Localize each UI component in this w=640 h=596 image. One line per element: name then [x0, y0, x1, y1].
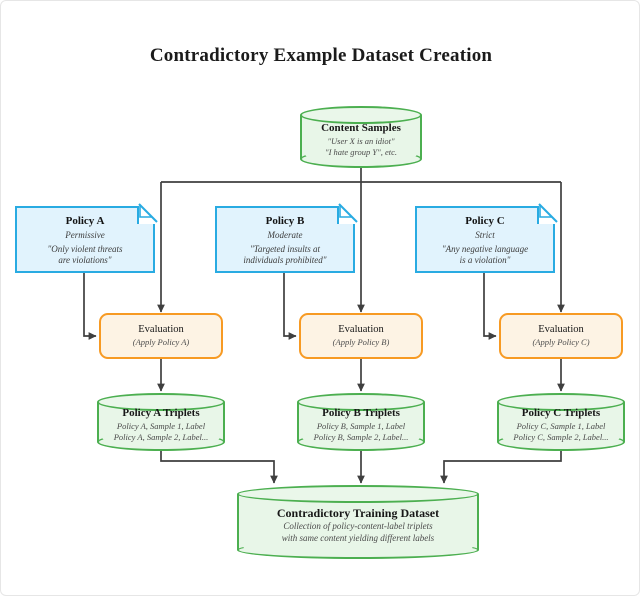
wire-policy-a-to-eval-a — [84, 273, 96, 336]
process-evaluation-b[interactable]: Evaluation (Apply Policy B) — [299, 313, 423, 359]
final-line-2: with same content yielding different lab… — [282, 533, 434, 544]
datastore-label-group: Content Samples "User X is an idiot" "I … — [300, 106, 422, 168]
process-title: Evaluation — [138, 323, 184, 337]
policy-label-group: Policy B Moderate "Targeted insults at i… — [217, 208, 353, 271]
datastore-triplets-c: Policy C Triplets Policy C, Sample 1, La… — [497, 393, 625, 451]
process-subtitle: (Apply Policy C) — [532, 337, 589, 348]
page-title: Contradictory Example Dataset Creation — [1, 45, 640, 67]
policy-card-b[interactable]: Policy B Moderate "Targeted insults at i… — [215, 206, 353, 273]
datastore-title: Contradictory Training Dataset — [277, 506, 439, 521]
final-line-1: Collection of policy-content-label tripl… — [283, 521, 432, 532]
triplet-line-2: Policy B, Sample 2, Label... — [314, 432, 409, 443]
datastore-label-group: Policy B Triplets Policy B, Sample 1, La… — [297, 393, 425, 451]
triplet-line-1: Policy B, Sample 1, Label — [317, 421, 405, 432]
triplet-line-1: Policy A, Sample 1, Label — [117, 421, 205, 432]
policy-quote-line-2: is a violation" — [460, 255, 511, 267]
policy-label-group: Policy A Permissive "Only violent threat… — [17, 208, 153, 271]
wire-triplets-c-to-final — [444, 451, 561, 483]
datastore-title: Content Samples — [321, 122, 401, 136]
card-right-edge — [353, 224, 355, 273]
process-evaluation-a[interactable]: Evaluation (Apply Policy A) — [99, 313, 223, 359]
policy-title: Policy A — [66, 214, 105, 228]
policy-label-group: Policy C Strict "Any negative language i… — [417, 208, 553, 271]
policy-title: Policy B — [266, 214, 305, 228]
process-subtitle: (Apply Policy A) — [133, 337, 190, 348]
datastore-title: Policy A Triplets — [122, 407, 199, 421]
policy-mode: Permissive — [65, 230, 105, 242]
triplet-line-1: Policy C, Sample 1, Label — [517, 421, 606, 432]
policy-quote-line-2: are violations" — [58, 255, 111, 267]
card-right-edge — [553, 224, 555, 273]
policy-quote-line-1: "Only violent threats — [48, 244, 123, 256]
triplet-line-2: Policy A, Sample 2, Label... — [114, 432, 209, 443]
policy-quote-line-2: individuals prohibited" — [243, 255, 326, 267]
policy-quote-line-1: "Targeted insults at — [250, 244, 320, 256]
process-title: Evaluation — [338, 323, 384, 337]
datastore-sample-1: "User X is an idiot" — [327, 136, 394, 147]
datastore-title: Policy B Triplets — [322, 407, 400, 421]
policy-title: Policy C — [465, 214, 504, 228]
datastore-label-group: Policy C Triplets Policy C, Sample 1, La… — [497, 393, 625, 451]
process-title: Evaluation — [538, 323, 584, 337]
datastore-label-group: Policy A Triplets Policy A, Sample 1, La… — [97, 393, 225, 451]
datastore-label-group: Contradictory Training Dataset Collectio… — [237, 485, 479, 559]
policy-mode: Strict — [475, 230, 495, 242]
wire-triplets-a-to-final — [161, 451, 274, 483]
datastore-title: Policy C Triplets — [522, 407, 600, 421]
policy-mode: Moderate — [268, 230, 303, 242]
policy-card-c[interactable]: Policy C Strict "Any negative language i… — [415, 206, 553, 273]
datastore-content-samples: Content Samples "User X is an idiot" "I … — [300, 106, 422, 168]
datastore-triplets-a: Policy A Triplets Policy A, Sample 1, La… — [97, 393, 225, 451]
policy-card-a[interactable]: Policy A Permissive "Only violent threat… — [15, 206, 153, 273]
wire-policy-b-to-eval-b — [284, 273, 296, 336]
triplet-line-2: Policy C, Sample 2, Label... — [513, 432, 608, 443]
card-right-edge — [153, 224, 155, 273]
datastore-sample-2: "I hate group Y", etc. — [325, 147, 397, 158]
wire-policy-c-to-eval-c — [484, 273, 496, 336]
policy-quote-line-1: "Any negative language — [442, 244, 528, 256]
datastore-triplets-b: Policy B Triplets Policy B, Sample 1, La… — [297, 393, 425, 451]
process-evaluation-c[interactable]: Evaluation (Apply Policy C) — [499, 313, 623, 359]
datastore-contradictory-training-dataset: Contradictory Training Dataset Collectio… — [237, 485, 479, 559]
process-subtitle: (Apply Policy B) — [333, 337, 390, 348]
diagram-canvas: Contradictory Example Dataset Creation — [0, 0, 640, 596]
